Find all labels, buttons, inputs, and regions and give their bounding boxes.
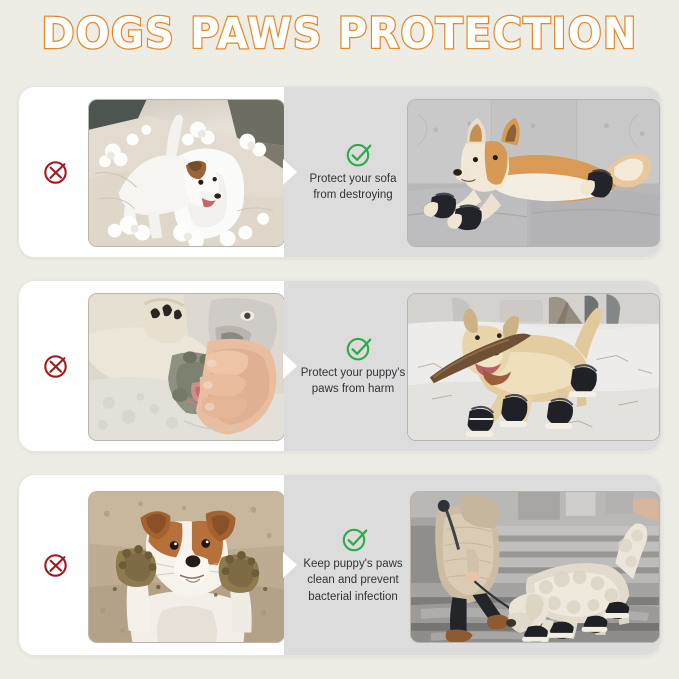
after-pane-2: Protect your puppy's paws from harm [284,281,661,451]
circle-check-icon [341,525,369,553]
before-pane-1 [19,87,284,257]
arrow-right-icon [283,353,297,379]
page-title: DOGS PAWS PROTECTION [41,13,637,55]
circle-check-icon [345,140,373,168]
benefit-caption-2: Protect your puppy's paws from harm [293,365,413,398]
benefit-caption-3: Keep puppy's paws clean and prevent bact… [293,556,413,605]
benefit-card-3: Keep puppy's paws clean and prevent bact… [18,474,662,656]
benefit-caption-block-3: Keep puppy's paws clean and prevent bact… [293,525,413,605]
labrador-running-in-snow-with-boots-photo [407,293,660,441]
dog-with-muddy-paws-photo [88,491,285,643]
circle-check-icon [345,334,373,362]
arrow-right-icon [283,552,297,578]
injured-dog-paw-photo [88,293,285,441]
circle-x-icon [41,157,71,187]
circle-x-icon [41,550,71,580]
dog-on-sofa-wearing-boots-photo [407,99,660,247]
dog-walking-on-stairs-with-boots-photo [410,491,660,643]
arrow-right-icon [283,159,297,185]
benefit-caption-1: Protect your sofa from destroying [293,171,413,204]
benefit-caption-block-2: Protect your puppy's paws from harm [293,334,413,398]
benefit-caption-block-1: Protect your sofa from destroying [293,140,413,204]
title-banner: DOGS PAWS PROTECTION [0,14,679,54]
dog-shredding-pillow-photo [88,99,285,247]
before-pane-2 [19,281,284,451]
after-pane-1: Protect your sofa from destroying [284,87,661,257]
circle-x-icon [41,351,71,381]
before-pane-3 [19,475,284,655]
after-pane-3: Keep puppy's paws clean and prevent bact… [284,475,661,655]
benefit-card-2: Protect your puppy's paws from harm [18,280,662,452]
benefit-card-1: Protect your sofa from destroying [18,86,662,258]
infographic-page: DOGS PAWS PROTECTION [0,0,679,679]
